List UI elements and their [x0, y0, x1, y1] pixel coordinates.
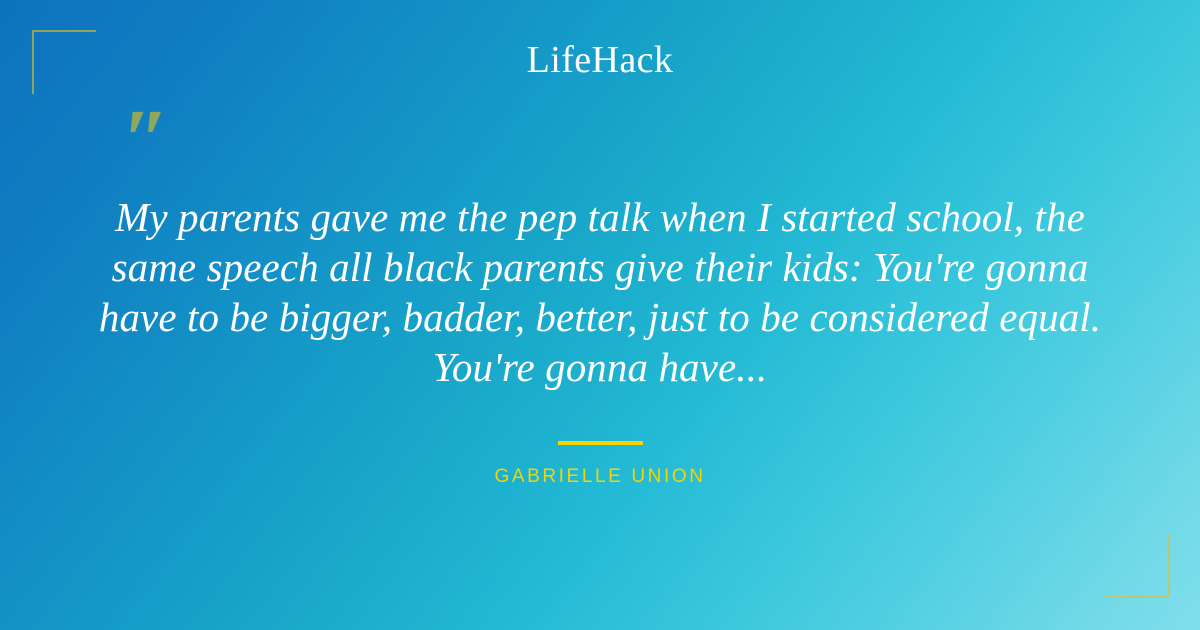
- quote-card: LifeHack ″ My parents gave me the pep ta…: [0, 0, 1200, 630]
- quote-line: You're gonna have...: [78, 342, 1122, 392]
- quote-text: My parents gave me the pep talk when I s…: [78, 192, 1122, 392]
- quote-line: same speech all black parents give their…: [78, 242, 1122, 292]
- quote-author: GABRIELLE UNION: [0, 464, 1200, 490]
- brand-logo: LifeHack: [0, 36, 1200, 84]
- quotation-mark-icon: ″: [122, 96, 166, 182]
- quote-line: My parents gave me the pep talk when I s…: [78, 192, 1122, 242]
- corner-bracket-bottom-right-icon: [1106, 534, 1170, 598]
- quote-line: have to be bigger, badder, better, just …: [78, 292, 1122, 342]
- divider-container: [0, 434, 1200, 452]
- attribution-divider: [558, 441, 643, 445]
